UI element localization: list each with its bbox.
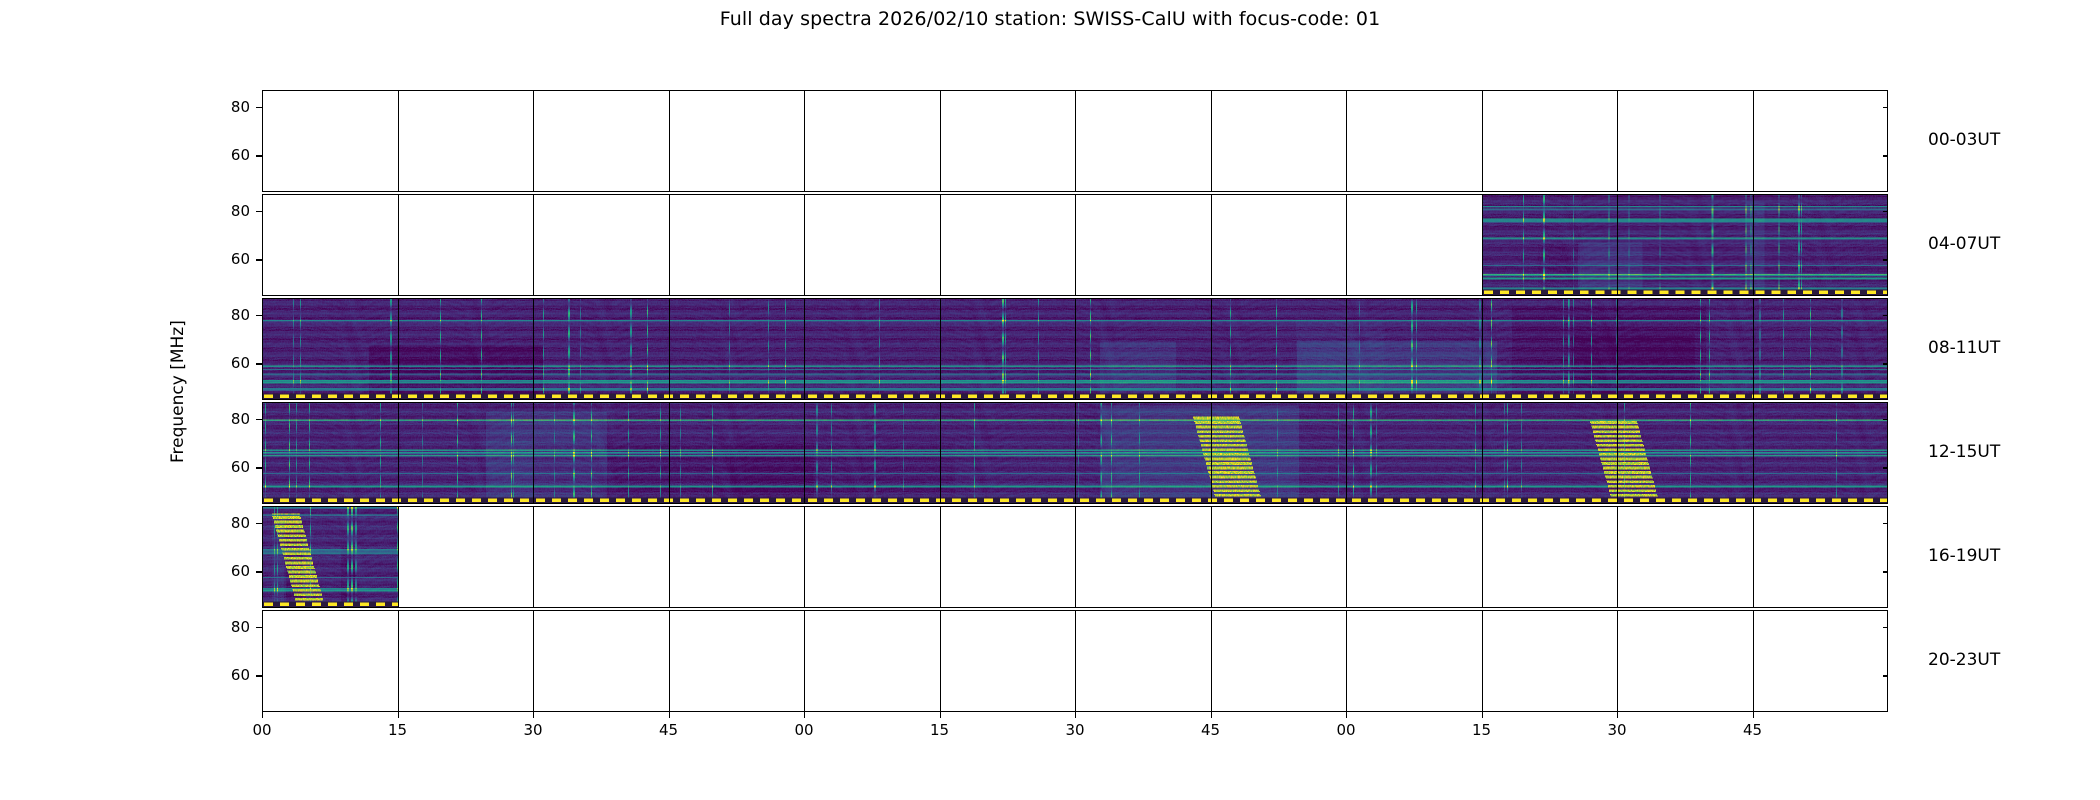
y-tick-mark xyxy=(256,107,262,108)
y-tick-label: 80 xyxy=(204,516,250,531)
x-grid-tick xyxy=(1075,506,1076,608)
row-label-20-23ut: 20-23UT xyxy=(1928,652,2000,669)
x-grid-tick xyxy=(1482,298,1483,400)
y-tick-label: 60 xyxy=(204,148,250,163)
x-grid-tick xyxy=(669,506,670,608)
y-tick-mark-right xyxy=(1883,627,1888,628)
x-grid-tick xyxy=(804,506,805,608)
x-grid-tick xyxy=(1617,194,1618,296)
y-tick-mark-right xyxy=(1883,419,1888,420)
y-tick-mark xyxy=(256,155,262,156)
x-tick-mark xyxy=(1482,712,1483,718)
x-grid-tick xyxy=(398,402,399,504)
x-grid-tick xyxy=(398,90,399,192)
y-tick-label: 60 xyxy=(204,564,250,579)
x-tick-label: 45 xyxy=(649,723,689,738)
x-grid-tick xyxy=(1617,402,1618,504)
x-grid-tick xyxy=(1482,90,1483,192)
x-grid-tick xyxy=(533,90,534,192)
y-tick-label: 80 xyxy=(204,412,250,427)
y-tick-label: 80 xyxy=(204,620,250,635)
x-grid-tick xyxy=(1211,610,1212,712)
x-grid-tick xyxy=(940,298,941,400)
x-grid-tick xyxy=(1346,298,1347,400)
x-grid-tick xyxy=(398,298,399,400)
x-tick-label: 15 xyxy=(1462,723,1502,738)
row-label-12-15ut: 12-15UT xyxy=(1928,444,2000,461)
x-grid-tick xyxy=(398,194,399,296)
x-tick-mark xyxy=(398,712,399,718)
spectrogram-image xyxy=(1483,195,1889,295)
x-grid-tick xyxy=(1211,506,1212,608)
x-grid-tick xyxy=(1617,90,1618,192)
figure-title: Full day spectra 2026/02/10 station: SWI… xyxy=(0,8,2100,30)
x-grid-tick xyxy=(669,194,670,296)
y-tick-mark xyxy=(256,211,262,212)
x-tick-label: 45 xyxy=(1733,723,1773,738)
x-grid-tick xyxy=(804,402,805,504)
y-tick-mark-right xyxy=(1883,211,1888,212)
x-tick-mark xyxy=(1346,712,1347,718)
y-tick-mark xyxy=(256,523,262,524)
x-grid-tick xyxy=(1753,402,1754,504)
x-grid-tick xyxy=(1346,610,1347,712)
x-grid-tick xyxy=(1211,90,1212,192)
y-tick-mark xyxy=(256,315,262,316)
x-grid-tick xyxy=(1075,610,1076,712)
x-grid-tick xyxy=(1075,194,1076,296)
y-tick-mark xyxy=(256,363,262,364)
y-tick-mark-right xyxy=(1883,259,1888,260)
x-tick-label: 30 xyxy=(1055,723,1095,738)
x-grid-tick xyxy=(940,90,941,192)
x-grid-tick xyxy=(804,610,805,712)
x-tick-label: 00 xyxy=(1326,723,1366,738)
x-grid-tick xyxy=(1617,506,1618,608)
y-tick-label: 80 xyxy=(204,308,250,323)
y-tick-mark-right xyxy=(1883,363,1888,364)
x-grid-tick xyxy=(940,506,941,608)
x-tick-label: 15 xyxy=(920,723,960,738)
x-tick-mark xyxy=(1753,712,1754,718)
x-grid-tick xyxy=(1617,298,1618,400)
x-tick-label: 30 xyxy=(1597,723,1637,738)
x-grid-tick xyxy=(1075,298,1076,400)
x-tick-mark xyxy=(804,712,805,718)
x-grid-tick xyxy=(533,402,534,504)
y-tick-mark-right xyxy=(1883,315,1888,316)
x-tick-mark xyxy=(1617,712,1618,718)
y-tick-mark xyxy=(256,675,262,676)
x-tick-mark xyxy=(262,712,263,718)
x-grid-tick xyxy=(1482,506,1483,608)
x-grid-tick xyxy=(1617,610,1618,712)
x-tick-mark xyxy=(1211,712,1212,718)
row-label-08-11ut: 08-11UT xyxy=(1928,340,2000,357)
x-grid-tick xyxy=(533,506,534,608)
x-grid-tick xyxy=(804,90,805,192)
x-grid-tick xyxy=(940,402,941,504)
x-grid-tick xyxy=(1482,610,1483,712)
y-tick-mark-right xyxy=(1883,675,1888,676)
y-axis-label: Frequency [MHz] xyxy=(168,320,188,463)
y-tick-mark-right xyxy=(1883,107,1888,108)
x-tick-mark xyxy=(669,712,670,718)
y-tick-mark xyxy=(256,419,262,420)
x-grid-tick xyxy=(1211,298,1212,400)
y-tick-label: 80 xyxy=(204,204,250,219)
x-grid-tick xyxy=(1211,402,1212,504)
y-tick-mark-right xyxy=(1883,571,1888,572)
spectrogram-image xyxy=(263,507,399,607)
x-tick-mark xyxy=(1075,712,1076,718)
x-grid-tick xyxy=(804,194,805,296)
x-grid-tick xyxy=(1346,90,1347,192)
y-tick-label: 80 xyxy=(204,100,250,115)
x-grid-tick xyxy=(669,90,670,192)
x-grid-tick xyxy=(1211,194,1212,296)
x-grid-tick xyxy=(1075,90,1076,192)
x-tick-label: 45 xyxy=(1191,723,1231,738)
y-tick-mark xyxy=(256,467,262,468)
y-tick-mark-right xyxy=(1883,467,1888,468)
y-tick-label: 60 xyxy=(204,460,250,475)
x-tick-label: 00 xyxy=(784,723,824,738)
x-grid-tick xyxy=(1346,194,1347,296)
x-grid-tick xyxy=(669,402,670,504)
x-grid-tick xyxy=(533,194,534,296)
x-grid-tick xyxy=(669,610,670,712)
y-tick-mark xyxy=(256,571,262,572)
y-tick-mark xyxy=(256,259,262,260)
x-grid-tick xyxy=(804,298,805,400)
y-tick-mark xyxy=(256,627,262,628)
x-tick-mark xyxy=(940,712,941,718)
x-grid-tick xyxy=(1753,90,1754,192)
x-grid-tick xyxy=(1482,402,1483,504)
x-grid-tick xyxy=(1346,506,1347,608)
row-label-04-07ut: 04-07UT xyxy=(1928,236,2000,253)
x-grid-tick xyxy=(669,298,670,400)
x-grid-tick xyxy=(1753,298,1754,400)
x-grid-tick xyxy=(1753,610,1754,712)
x-tick-label: 15 xyxy=(378,723,418,738)
x-tick-mark xyxy=(533,712,534,718)
x-grid-tick xyxy=(1482,194,1483,296)
x-grid-tick xyxy=(533,610,534,712)
x-grid-tick xyxy=(940,610,941,712)
row-label-16-19ut: 16-19UT xyxy=(1928,548,2000,565)
x-grid-tick xyxy=(1753,194,1754,296)
x-grid-tick xyxy=(940,194,941,296)
y-tick-label: 60 xyxy=(204,668,250,683)
x-grid-tick xyxy=(398,610,399,712)
x-grid-tick xyxy=(398,506,399,608)
x-tick-label: 00 xyxy=(242,723,282,738)
y-tick-mark-right xyxy=(1883,523,1888,524)
y-tick-label: 60 xyxy=(204,252,250,267)
x-tick-label: 30 xyxy=(513,723,553,738)
x-grid-tick xyxy=(1753,506,1754,608)
figure-canvas: Full day spectra 2026/02/10 station: SWI… xyxy=(0,0,2100,800)
x-grid-tick xyxy=(1346,402,1347,504)
row-label-00-03ut: 00-03UT xyxy=(1928,132,2000,149)
x-grid-tick xyxy=(1075,402,1076,504)
y-tick-mark-right xyxy=(1883,155,1888,156)
x-grid-tick xyxy=(533,298,534,400)
y-tick-label: 60 xyxy=(204,356,250,371)
